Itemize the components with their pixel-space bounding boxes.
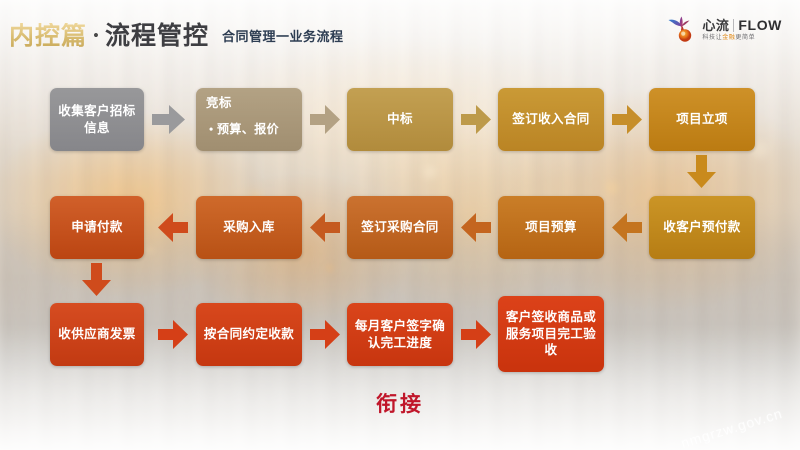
brand-logo: 心流 FLOW 科技让金融更简单 bbox=[666, 12, 782, 46]
flow-node-label: 中标 bbox=[387, 111, 413, 128]
title-section-label: 内控篇 bbox=[9, 23, 87, 50]
flow-arrow-r1-1 bbox=[152, 105, 185, 134]
flow-node-r2c4[interactable]: 项目预算 bbox=[498, 196, 604, 259]
footnote-label: 衔接 bbox=[0, 388, 800, 418]
flow-node-label: 收集客户招标信息 bbox=[56, 103, 138, 137]
logo-text-block: 心流 FLOW 科技让金融更简单 bbox=[702, 17, 782, 41]
flow-node-r2c5[interactable]: 收客户预付款 bbox=[649, 196, 755, 259]
flow-arrow-down-r1-r2 bbox=[687, 155, 716, 188]
logo-tagline-highlight: 金融 bbox=[722, 35, 735, 41]
flow-node-label: 收供应商发票 bbox=[58, 326, 135, 343]
flow-node-label: 收客户预付款 bbox=[663, 219, 740, 236]
logo-divider bbox=[733, 19, 734, 32]
logo-chinese-name: 心流 bbox=[702, 19, 729, 32]
logo-tagline-post: 更简单 bbox=[735, 35, 755, 41]
flow-arrow-r1-4 bbox=[612, 105, 642, 134]
flow-arrow-r2-3 bbox=[461, 213, 491, 242]
flow-node-label: 签订采购合同 bbox=[361, 219, 438, 236]
logo-tagline: 科技让金融更简单 bbox=[702, 35, 782, 41]
flow-node-r1c1[interactable]: 收集客户招标信息 bbox=[50, 88, 144, 151]
flow-arrow-r3-3 bbox=[461, 320, 491, 349]
page-title: 内控篇•流程管控 bbox=[9, 16, 209, 52]
flow-arrow-r1-3 bbox=[461, 105, 491, 134]
flow-arrow-r1-2 bbox=[310, 105, 340, 134]
flow-node-label: 按合同约定收款 bbox=[204, 326, 294, 343]
flow-arrow-r2-2 bbox=[310, 213, 340, 242]
flow-node-label: 客户签收商品或服务项目完工验收 bbox=[504, 309, 598, 360]
flow-node-r1c2[interactable]: 竞标 • 预算、报价 bbox=[196, 88, 302, 151]
flow-node-r1c4[interactable]: 签订收入合同 bbox=[498, 88, 604, 151]
flow-node-r2c3[interactable]: 签订采购合同 bbox=[347, 196, 453, 259]
flow-node-label: 签订收入合同 bbox=[512, 111, 589, 128]
flow-node-r1c5[interactable]: 项目立项 bbox=[649, 88, 755, 151]
flow-node-r3c3[interactable]: 每月客户签字确认完工进度 bbox=[347, 303, 453, 366]
flow-arrow-r2-1 bbox=[158, 213, 188, 242]
page-subtitle: 合同管理一业务流程 bbox=[222, 26, 344, 45]
logo-mark-icon bbox=[666, 14, 696, 44]
flow-arrow-r2-4 bbox=[612, 213, 642, 242]
title-main-label: 流程管控 bbox=[105, 23, 209, 50]
flow-arrow-r3-1 bbox=[158, 320, 188, 349]
logo-tagline-pre: 科技让 bbox=[702, 35, 722, 41]
flow-node-sublabel: • 预算、报价 bbox=[206, 121, 279, 137]
slide-canvas: 内控篇•流程管控 合同管理一业务流程 bbox=[0, 0, 800, 450]
flow-node-label: 申请付款 bbox=[71, 219, 123, 236]
logo-english-name: FLOW bbox=[738, 18, 782, 32]
slide-header: 内控篇•流程管控 合同管理一业务流程 bbox=[0, 0, 800, 62]
flow-node-r2c1[interactable]: 申请付款 bbox=[50, 196, 144, 259]
flow-node-label: 项目预算 bbox=[525, 219, 577, 236]
flow-node-label: 竞标 bbox=[206, 95, 232, 112]
flow-node-label: 采购入库 bbox=[223, 219, 275, 236]
title-separator: • bbox=[93, 26, 99, 45]
flow-arrow-down-r2-r3 bbox=[82, 263, 111, 296]
flow-arrow-r3-2 bbox=[310, 320, 340, 349]
flow-node-r2c2[interactable]: 采购入库 bbox=[196, 196, 302, 259]
flow-node-label: 每月客户签字确认完工进度 bbox=[353, 318, 447, 352]
flow-node-label: 项目立项 bbox=[676, 111, 728, 128]
flow-node-r3c4[interactable]: 客户签收商品或服务项目完工验收 bbox=[498, 296, 604, 372]
flow-node-r3c2[interactable]: 按合同约定收款 bbox=[196, 303, 302, 366]
flow-node-r3c1[interactable]: 收供应商发票 bbox=[50, 303, 144, 366]
flow-node-r1c3[interactable]: 中标 bbox=[347, 88, 453, 151]
